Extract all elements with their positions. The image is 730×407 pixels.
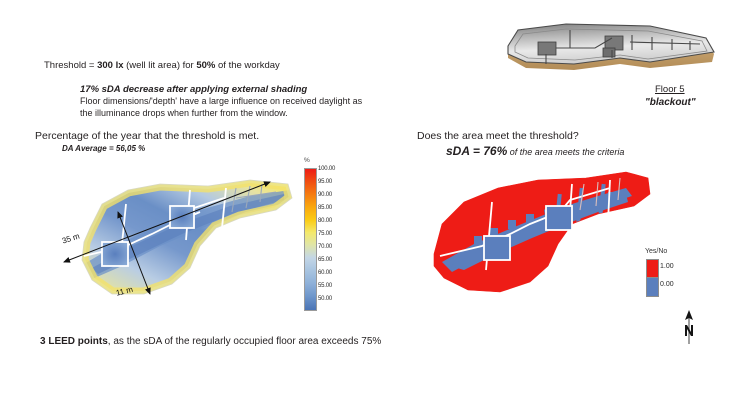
legend-value-no: 0.00 bbox=[660, 281, 674, 288]
legend-value-yes: 1.00 bbox=[660, 263, 674, 270]
threshold-percent: 50% bbox=[196, 60, 215, 71]
colorbar-tick: 65.00 bbox=[318, 257, 332, 263]
threshold-value: 300 lx bbox=[97, 60, 123, 71]
legend-swatch-yes bbox=[646, 259, 659, 279]
sda-result: sDA = 76% of the area meets the criteria bbox=[446, 144, 624, 159]
colorbar-tick: 70.00 bbox=[318, 244, 332, 250]
colorbar-tick: 80.00 bbox=[318, 218, 332, 224]
colorbar-tick: 60.00 bbox=[318, 270, 332, 276]
leed-rest: , as the sDA of the regularly occupied f… bbox=[108, 336, 382, 347]
sda-result-suffix: of the area meets the criteria bbox=[507, 147, 624, 157]
sda-passfail-plan bbox=[420, 162, 660, 312]
north-arrow-icon bbox=[678, 308, 700, 346]
shading-body: Floor dimensions/'depth' have a large in… bbox=[80, 96, 370, 119]
sda-core-mid bbox=[546, 206, 572, 230]
threshold-statement: Threshold = 300 lx (well lit area) for 5… bbox=[44, 60, 280, 72]
colorbar-tick: 50.00 bbox=[318, 296, 332, 302]
legend-swatch-no bbox=[646, 277, 659, 297]
thumbnail-core-west bbox=[538, 42, 556, 55]
leed-points: 3 LEED points bbox=[40, 336, 108, 347]
colorbar-tick: 90.00 bbox=[318, 192, 332, 198]
variant-label: "blackout" bbox=[645, 97, 696, 110]
threshold-middle: (well lit area) for bbox=[124, 60, 197, 71]
threshold-prefix: Threshold = bbox=[44, 60, 97, 71]
colorbar-tick: 95.00 bbox=[318, 179, 332, 185]
colorbar-unit-label: % bbox=[304, 157, 310, 164]
da-colorbar: % 100.00 95.00 90.00 85.00 80.00 75.00 7… bbox=[302, 157, 354, 315]
sda-legend: Yes/No 1.00 0.00 bbox=[645, 248, 705, 308]
colorbar-tick: 100.00 bbox=[318, 166, 335, 172]
da-average-label: DA Average = 56,05 % bbox=[62, 144, 145, 154]
floor-thumbnail bbox=[500, 18, 725, 80]
legend-title: Yes/No bbox=[645, 248, 667, 255]
sda-result-value: sDA = 76% bbox=[446, 144, 507, 158]
threshold-suffix: of the workday bbox=[215, 60, 279, 71]
colorbar-gradient bbox=[304, 168, 317, 311]
right-panel-question: Does the area meet the threshold? bbox=[417, 130, 579, 143]
shading-headline: 17% sDA decrease after applying external… bbox=[80, 84, 307, 96]
da-heatmap-plan bbox=[40, 168, 300, 316]
floor-label: Floor 5 bbox=[655, 84, 685, 96]
colorbar-tick: 55.00 bbox=[318, 283, 332, 289]
sda-core-west bbox=[484, 236, 510, 260]
colorbar-tick: 75.00 bbox=[318, 231, 332, 237]
colorbar-tick: 85.00 bbox=[318, 205, 332, 211]
left-panel-question: Percentage of the year that the threshol… bbox=[35, 130, 259, 143]
core-mid bbox=[170, 206, 194, 228]
leed-statement: 3 LEED points, as the sDA of the regular… bbox=[40, 336, 381, 349]
